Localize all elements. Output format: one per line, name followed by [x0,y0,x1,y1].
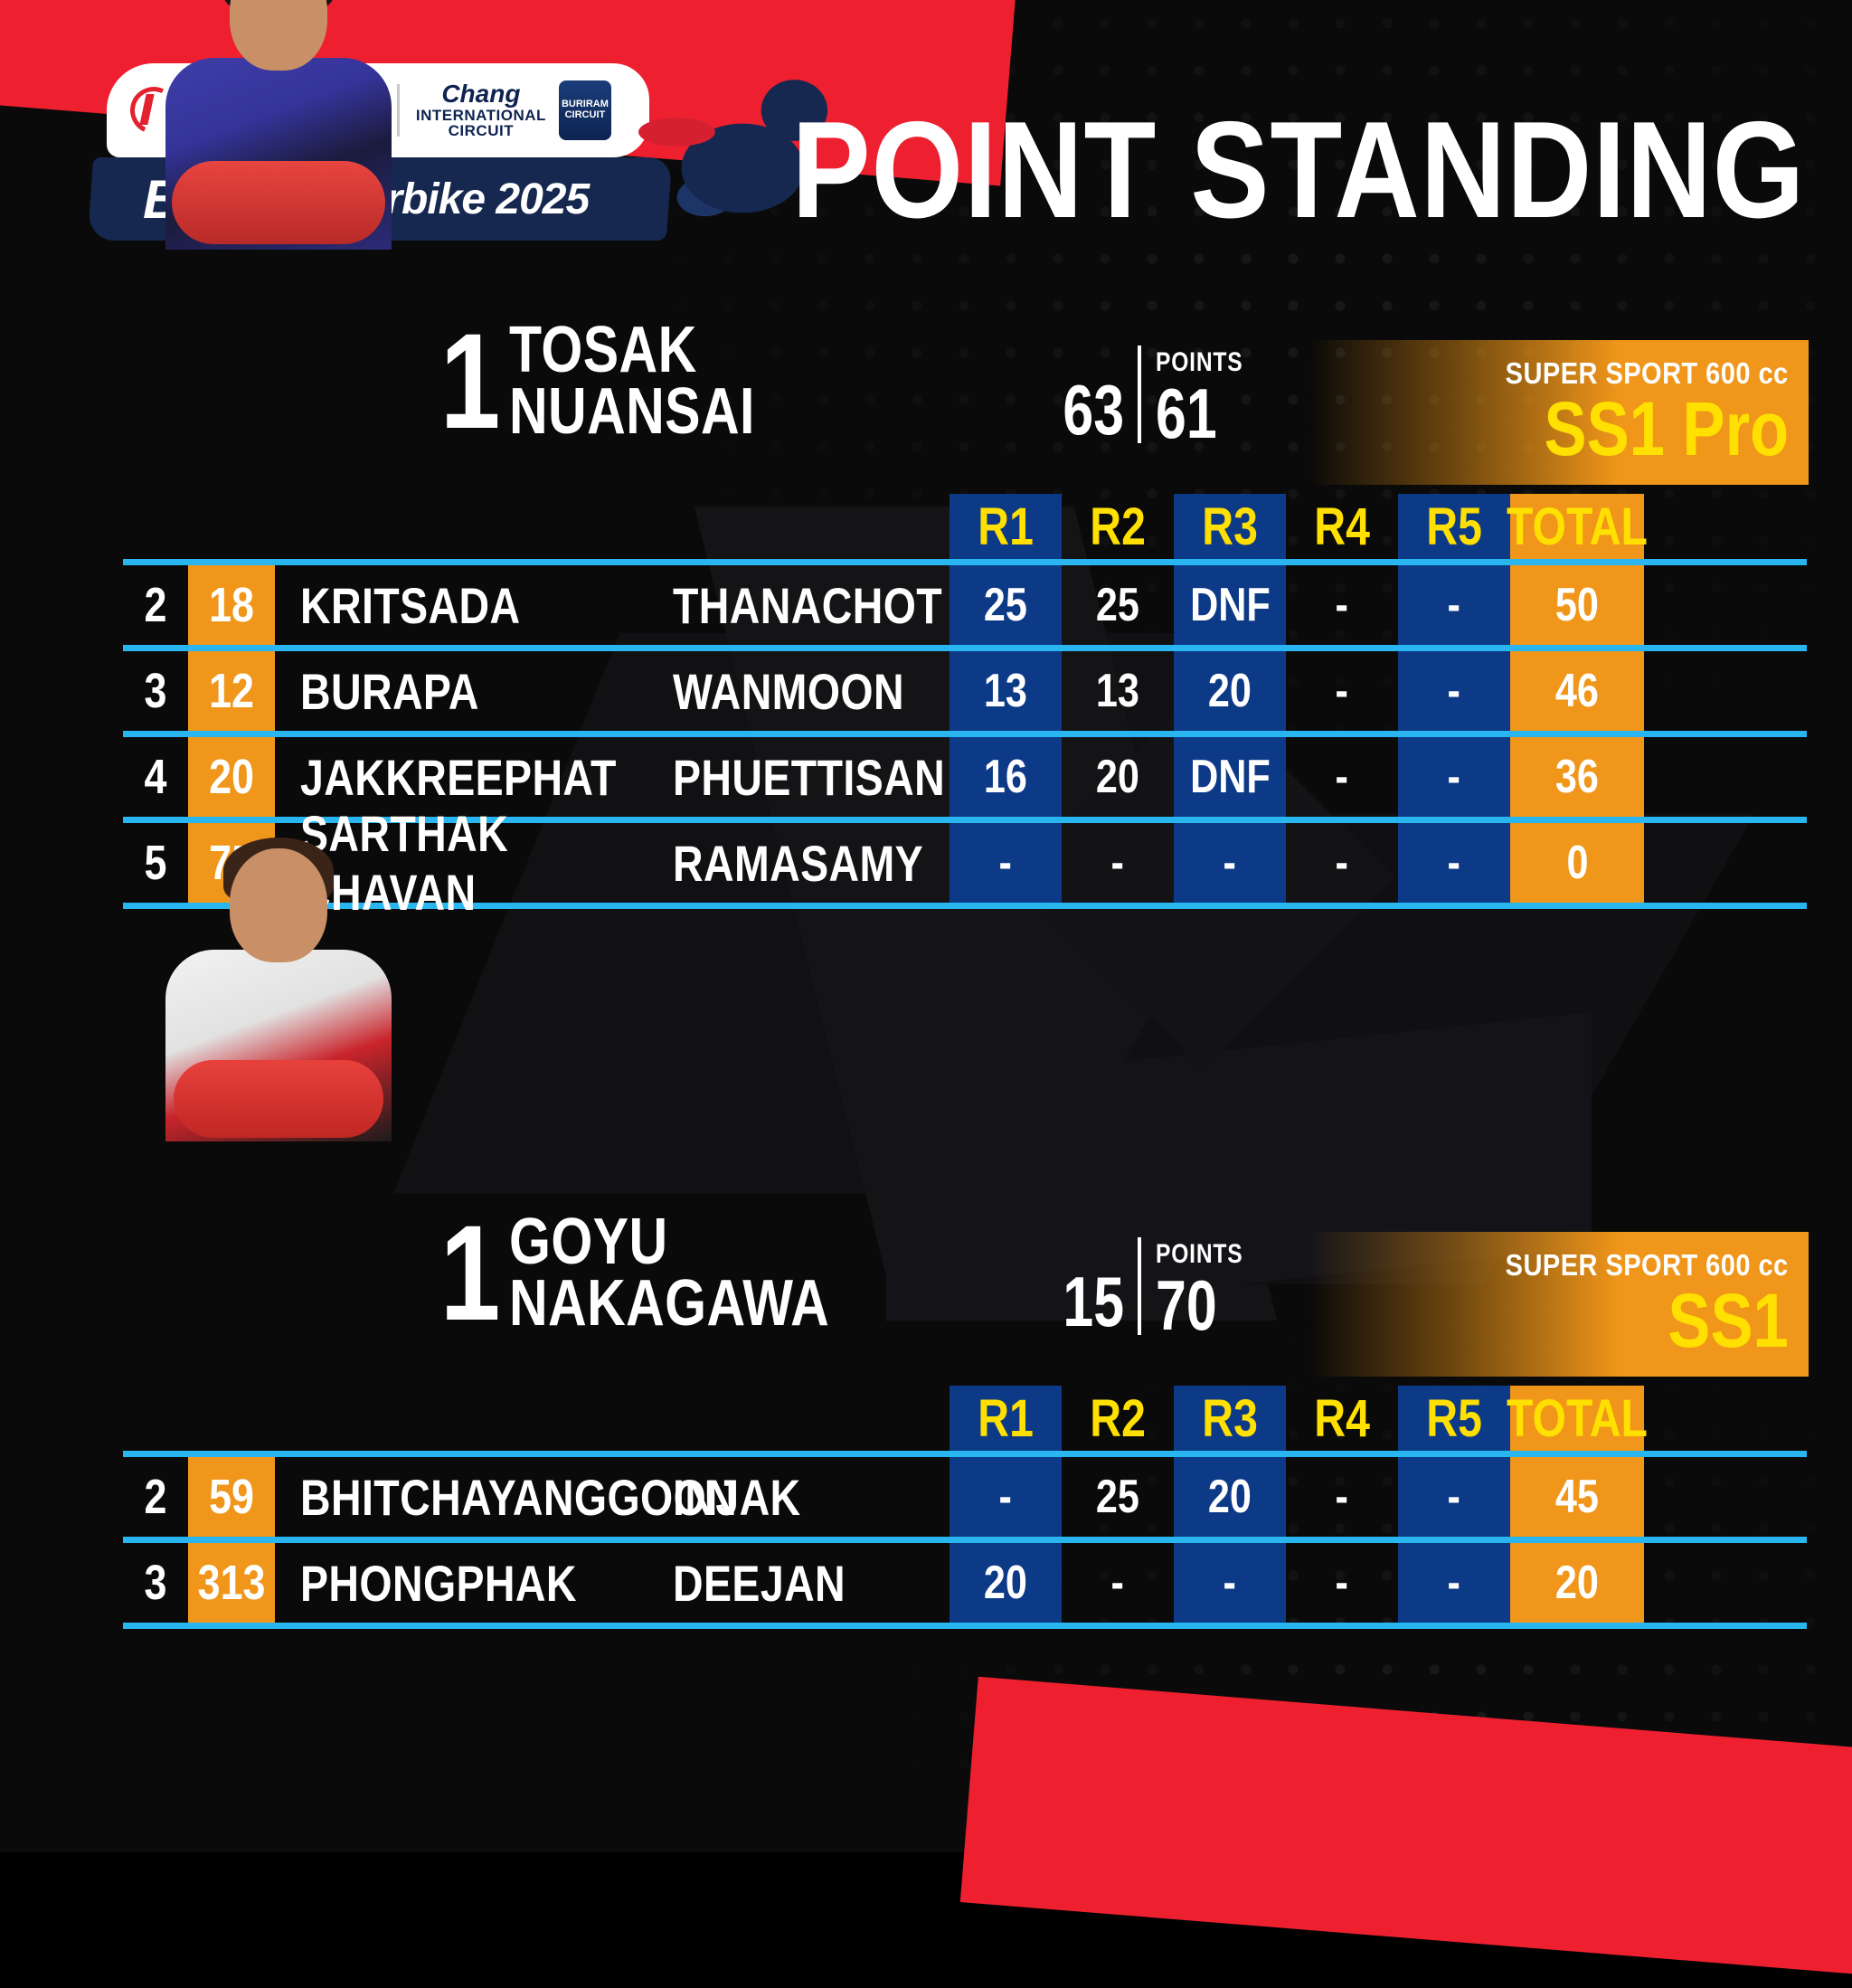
row-last-name: THANACHOT [673,576,942,635]
leader-name-group: 1 TOSAK NUANSAI [425,320,809,442]
row-rank: 3 [145,663,167,719]
circuit-text: CIRCUIT [449,123,514,138]
row-r5: - [1448,664,1460,718]
row-r3: DNF [1190,750,1271,804]
row-bike-number: 313 [198,1555,266,1611]
column-header-r3: R3 [1202,1388,1258,1449]
column-header-r4: R4 [1314,497,1370,557]
row-r4: - [1336,836,1348,890]
row-rank: 3 [145,1555,167,1611]
row-total: 0 [1566,836,1588,890]
row-divider [123,1451,1807,1457]
row-first-name: BHITCHAYANGGOON [300,1468,737,1527]
leader-photo [156,834,402,1141]
row-divider [123,1623,1807,1629]
table-row[interactable]: 2 18 KRITSADA THANACHOT 25 25 DNF - - 50 [123,565,1807,645]
row-r5: - [1448,1470,1460,1524]
row-divider [123,1537,1807,1543]
leader-position: 1 [440,328,501,434]
leader-bike-number: 15 [1063,1266,1128,1337]
row-first-name: JAKKREEPHAT [300,748,617,807]
row-r2: 20 [1096,750,1139,804]
row-divider [123,645,1807,651]
row-r1: 20 [984,1556,1027,1610]
row-r2: 25 [1096,1470,1139,1524]
row-last-name: DEEJAN [673,1554,846,1613]
points-separator [1138,1237,1141,1335]
leader-points-value: 70 [1156,1273,1217,1337]
row-r3: 20 [1208,1470,1252,1524]
column-header-r5: R5 [1426,497,1482,557]
leader-bike-number: 63 [1063,374,1128,445]
row-r1: - [999,836,1012,890]
column-header-r1: R1 [978,1388,1034,1449]
row-r5: - [1448,836,1460,890]
row-first-name: BURAPA [300,662,479,721]
row-r4: - [1336,578,1348,632]
row-last-name: PHUETTISAN [673,748,945,807]
leader-points-group: 63 POINTS 61 [1044,346,1261,445]
table-header-row: R1 R2 R3 R4 R5 TOTAL [123,494,1807,559]
row-r2: - [1111,1556,1124,1610]
row-r5: - [1448,750,1460,804]
row-r4: - [1336,1470,1348,1524]
leader-first-name: TOSAK [509,320,755,382]
row-r1: 13 [984,664,1027,718]
row-bike-number: 20 [209,749,254,805]
column-header-r4: R4 [1314,1388,1370,1449]
row-r1: 16 [984,750,1027,804]
leader-last-name: NAKAGAWA [509,1273,829,1335]
table-header-row: R1 R2 R3 R4 R5 TOTAL [123,1386,1807,1451]
row-r5: - [1448,578,1460,632]
column-header-total: TOTAL [1507,497,1648,557]
row-r4: - [1336,750,1348,804]
row-bike-number: 12 [209,663,254,719]
international-text: INTERNATIONAL [416,108,546,123]
table-row[interactable]: 3 313 PHONGPHAK DEEJAN 20 - - - - 20 [123,1543,1807,1623]
row-r2: 25 [1096,578,1139,632]
row-r5: - [1448,1556,1460,1610]
leader-points-group: 15 POINTS 70 [1044,1237,1261,1337]
row-total: 45 [1555,1470,1599,1524]
row-r4: - [1336,1556,1348,1610]
chang-text: Chang [441,81,520,108]
row-first-name: PHONGPHAK [300,1554,577,1613]
page-content: NEXZTER BRAKE PADS Chang INTERNATIONAL C… [0,0,1852,1852]
column-header-r2: R2 [1090,1388,1146,1449]
row-r1: - [999,1470,1012,1524]
leader-last-name: NUANSAI [509,382,755,443]
row-r3: - [1224,1556,1236,1610]
row-r3: 20 [1208,664,1252,718]
row-total: 36 [1555,750,1599,804]
class-badge: SUPER SPORT 600 cc SS1 Pro [1309,340,1809,485]
row-rank: 4 [145,749,167,805]
table-row[interactable]: 2 59 BHITCHAYANGGOON INJAK - 25 20 - - 4… [123,1457,1807,1537]
row-r3: DNF [1190,578,1271,632]
row-last-name: RAMASAMY [673,834,923,893]
column-header-r2: R2 [1090,497,1146,557]
leader-position: 1 [440,1220,501,1326]
row-r2: 13 [1096,664,1139,718]
column-header-r5: R5 [1426,1388,1482,1449]
row-last-name: WANMOON [673,662,904,721]
row-divider [123,559,1807,565]
leader-first-name: GOYU [509,1212,829,1273]
leader-name-group: 1 GOYU NAKAGAWA [425,1212,900,1334]
column-header-r1: R1 [978,497,1034,557]
standings-table: R1 R2 R3 R4 R5 TOTAL 2 59 BHITCHAYANGGOO… [123,1386,1807,1629]
class-badge: SUPER SPORT 600 cc SS1 [1309,1232,1809,1377]
table-row[interactable]: 3 12 BURAPA WANMOON 13 13 20 - - 46 [123,651,1807,731]
column-header-total: TOTAL [1507,1388,1648,1449]
row-first-name: KRITSADA [300,576,520,635]
row-r3: - [1224,836,1236,890]
leader-points-value: 61 [1156,382,1217,445]
row-rank: 2 [145,1469,167,1525]
row-total: 20 [1555,1556,1599,1610]
page-title: POINT STANDING [791,101,1805,239]
row-divider [123,731,1807,737]
column-header-r3: R3 [1202,497,1258,557]
row-bike-number: 59 [209,1469,254,1525]
row-total: 50 [1555,578,1599,632]
leader-photo [156,0,402,250]
row-total: 46 [1555,664,1599,718]
row-r4: - [1336,664,1348,718]
row-r1: 25 [984,578,1027,632]
row-bike-number: 18 [209,577,254,633]
class-name: SS1 [1668,1284,1789,1358]
row-rank: 2 [145,577,167,633]
chang-circuit-wordmark: Chang INTERNATIONAL CIRCUIT [416,81,546,138]
points-separator [1138,346,1141,443]
row-r2: - [1111,836,1124,890]
row-last-name: INJAK [673,1468,801,1527]
class-name: SS1 Pro [1544,393,1789,466]
